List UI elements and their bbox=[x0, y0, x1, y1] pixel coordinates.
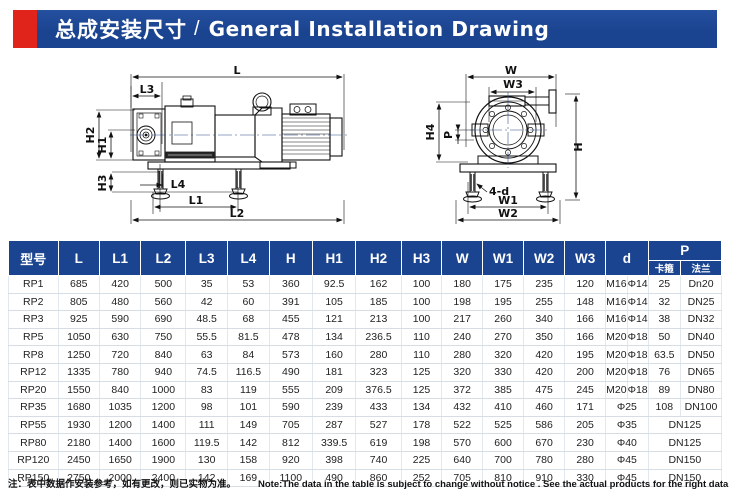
cell-d-dia: Φ14 bbox=[627, 293, 648, 311]
cell-L1: 840 bbox=[99, 381, 140, 399]
cell-W3: 195 bbox=[565, 346, 606, 364]
th-P: P bbox=[648, 241, 721, 261]
cell-L1: 420 bbox=[99, 276, 140, 294]
cell-W: 640 bbox=[442, 451, 483, 469]
cell-p: DN150 bbox=[648, 451, 721, 469]
cell-L3: 35 bbox=[186, 276, 228, 294]
cell-L1: 1035 bbox=[99, 399, 140, 417]
table-row: RP80218014001600119.5142812339.561919857… bbox=[9, 434, 722, 452]
cell-H3: 110 bbox=[401, 328, 442, 346]
cell-H: 573 bbox=[269, 346, 312, 364]
cell-L: 1550 bbox=[58, 381, 99, 399]
cell-d: Φ25 bbox=[606, 399, 649, 417]
cell-L: 2180 bbox=[58, 434, 99, 452]
label-P: P bbox=[442, 131, 455, 139]
cell-W: 180 bbox=[442, 276, 483, 294]
cell-d-dia: Φ18 bbox=[627, 346, 648, 364]
cell-p-clamp: 89 bbox=[648, 381, 680, 399]
label-H: H bbox=[572, 142, 585, 151]
table-row: RP35168010351200981015902394331344324104… bbox=[9, 399, 722, 417]
cell-model: RP8 bbox=[9, 346, 59, 364]
cell-H1: 160 bbox=[312, 346, 356, 364]
cell-d-dia: Φ18 bbox=[627, 381, 648, 399]
cell-model: RP55 bbox=[9, 416, 59, 434]
cell-L2: 1900 bbox=[141, 451, 186, 469]
cell-H2: 213 bbox=[356, 311, 401, 329]
cell-W3: 148 bbox=[565, 293, 606, 311]
cell-W3: 166 bbox=[565, 328, 606, 346]
cell-H2: 527 bbox=[356, 416, 401, 434]
cell-L4: 149 bbox=[228, 416, 270, 434]
cell-L4: 53 bbox=[228, 276, 270, 294]
cell-H1: 105 bbox=[312, 293, 356, 311]
cell-p: DN125 bbox=[648, 434, 721, 452]
cell-W2: 475 bbox=[524, 381, 565, 399]
th-P-clamp: 卡箍 bbox=[648, 261, 680, 276]
cell-W2: 350 bbox=[524, 328, 565, 346]
cell-H3: 198 bbox=[401, 434, 442, 452]
th-L4: L4 bbox=[228, 241, 270, 276]
cell-p-clamp: 50 bbox=[648, 328, 680, 346]
cell-W: 432 bbox=[442, 399, 483, 417]
cell-p-flange: DN50 bbox=[680, 346, 721, 364]
table-header-row-1: 型号 L L1 L2 L3 L4 H H1 H2 H3 W W1 W2 W3 d… bbox=[9, 241, 722, 261]
cell-H1: 398 bbox=[312, 451, 356, 469]
cell-d-dia: Φ18 bbox=[627, 328, 648, 346]
cell-L2: 1600 bbox=[141, 434, 186, 452]
cell-d-thread: M20 bbox=[606, 363, 627, 381]
cell-H1: 239 bbox=[312, 399, 356, 417]
cell-W: 522 bbox=[442, 416, 483, 434]
cell-d-thread: M20 bbox=[606, 346, 627, 364]
cell-W3: 120 bbox=[565, 276, 606, 294]
cell-W3: 171 bbox=[565, 399, 606, 417]
cell-model: RP3 bbox=[9, 311, 59, 329]
cell-p-clamp: 38 bbox=[648, 311, 680, 329]
leader-4d bbox=[477, 184, 487, 192]
label-L3: L3 bbox=[140, 83, 155, 96]
cell-H1: 209 bbox=[312, 381, 356, 399]
th-L1: L1 bbox=[99, 241, 140, 276]
cell-L: 805 bbox=[58, 293, 99, 311]
cell-H3: 125 bbox=[401, 363, 442, 381]
cell-W: 240 bbox=[442, 328, 483, 346]
table-header: 型号 L L1 L2 L3 L4 H H1 H2 H3 W W1 W2 W3 d… bbox=[9, 241, 722, 276]
cell-L3: 55.5 bbox=[186, 328, 228, 346]
cell-d-dia: Φ14 bbox=[627, 311, 648, 329]
cell-L: 925 bbox=[58, 311, 99, 329]
cell-H2: 433 bbox=[356, 399, 401, 417]
label-W3: W3 bbox=[503, 78, 523, 91]
cell-L3: 74.5 bbox=[186, 363, 228, 381]
cell-W3: 166 bbox=[565, 311, 606, 329]
cell-H3: 100 bbox=[401, 293, 442, 311]
th-W3: W3 bbox=[565, 241, 606, 276]
cell-L2: 690 bbox=[141, 311, 186, 329]
cell-W3: 205 bbox=[565, 416, 606, 434]
cell-p-flange: DN32 bbox=[680, 311, 721, 329]
label-4-d: 4-d bbox=[489, 185, 509, 198]
cell-H2: 740 bbox=[356, 451, 401, 469]
cell-p-clamp: 63.5 bbox=[648, 346, 680, 364]
cell-W1: 260 bbox=[483, 311, 524, 329]
cell-W2: 255 bbox=[524, 293, 565, 311]
cell-W2: 460 bbox=[524, 399, 565, 417]
cell-p-flange: DN40 bbox=[680, 328, 721, 346]
cell-W: 280 bbox=[442, 346, 483, 364]
title-separator: / bbox=[194, 18, 200, 41]
table-row: RP12133578094074.5116.549018132312532033… bbox=[9, 363, 722, 381]
cell-H3: 100 bbox=[401, 311, 442, 329]
cell-H2: 185 bbox=[356, 293, 401, 311]
cell-H: 812 bbox=[269, 434, 312, 452]
cell-H1: 121 bbox=[312, 311, 356, 329]
cell-L4: 119 bbox=[228, 381, 270, 399]
cell-L4: 60 bbox=[228, 293, 270, 311]
table-row: RP28054805604260391105185100198195255148… bbox=[9, 293, 722, 311]
cell-p-flange: Dn20 bbox=[680, 276, 721, 294]
cell-model: RP12 bbox=[9, 363, 59, 381]
cell-d: Φ45 bbox=[606, 451, 649, 469]
page-title-chinese: 总成安装尺寸 bbox=[55, 14, 187, 44]
page-title-english: General Installation Drawing bbox=[209, 17, 550, 41]
table-row: RP201550840100083119555209376.5125372385… bbox=[9, 381, 722, 399]
cell-W1: 525 bbox=[483, 416, 524, 434]
cell-L: 685 bbox=[58, 276, 99, 294]
technical-drawing-area: L L3 L4 L1 L2 H2 H1 H3 W W3 W1 W2 H4 P H… bbox=[0, 52, 730, 234]
th-H2: H2 bbox=[356, 241, 401, 276]
note-english-label: Note: bbox=[258, 479, 282, 490]
cell-L4: 142 bbox=[228, 434, 270, 452]
table-row: RP5105063075055.581.5478134236.511024027… bbox=[9, 328, 722, 346]
cell-L1: 720 bbox=[99, 346, 140, 364]
table-row: RP392559069048.5684551212131002172603401… bbox=[9, 311, 722, 329]
cell-L3: 63 bbox=[186, 346, 228, 364]
footer-note: 注：表中数据作安装参考，如有更改，则已实物为准。 Note: The data … bbox=[8, 476, 722, 490]
cell-model: RP1 bbox=[9, 276, 59, 294]
cell-W1: 385 bbox=[483, 381, 524, 399]
cell-H: 360 bbox=[269, 276, 312, 294]
cell-L3: 98 bbox=[186, 399, 228, 417]
cell-L3: 119.5 bbox=[186, 434, 228, 452]
cell-H1: 339.5 bbox=[312, 434, 356, 452]
th-H: H bbox=[269, 241, 312, 276]
cell-d-dia: Φ14 bbox=[627, 276, 648, 294]
th-W1: W1 bbox=[483, 241, 524, 276]
th-H3: H3 bbox=[401, 241, 442, 276]
cell-L1: 480 bbox=[99, 293, 140, 311]
cell-H: 478 bbox=[269, 328, 312, 346]
label-H1: H1 bbox=[96, 137, 109, 154]
cell-L2: 1200 bbox=[141, 399, 186, 417]
cell-L1: 1200 bbox=[99, 416, 140, 434]
cell-W1: 320 bbox=[483, 346, 524, 364]
cell-d: Φ35 bbox=[606, 416, 649, 434]
cell-H: 490 bbox=[269, 363, 312, 381]
cell-d-thread: M16 bbox=[606, 276, 627, 294]
cell-W: 570 bbox=[442, 434, 483, 452]
cell-L2: 840 bbox=[141, 346, 186, 364]
side-view-group bbox=[96, 74, 348, 224]
page-title-bar: 总成安装尺寸 / General Installation Drawing bbox=[13, 10, 717, 48]
th-L3: L3 bbox=[186, 241, 228, 276]
cell-H2: 376.5 bbox=[356, 381, 401, 399]
cell-W: 372 bbox=[442, 381, 483, 399]
cell-L2: 1400 bbox=[141, 416, 186, 434]
table-row: RP12024501650190013015892039874022564070… bbox=[9, 451, 722, 469]
cell-p-flange: DN80 bbox=[680, 381, 721, 399]
cell-d-thread: M20 bbox=[606, 381, 627, 399]
cell-L: 1930 bbox=[58, 416, 99, 434]
cell-d-dia: Φ18 bbox=[627, 363, 648, 381]
cell-W3: 280 bbox=[565, 451, 606, 469]
cell-W1: 330 bbox=[483, 363, 524, 381]
cell-L1: 1400 bbox=[99, 434, 140, 452]
cell-L1: 1650 bbox=[99, 451, 140, 469]
cell-H: 590 bbox=[269, 399, 312, 417]
cell-p: DN125 bbox=[648, 416, 721, 434]
label-L: L bbox=[233, 64, 240, 77]
cell-L: 2450 bbox=[58, 451, 99, 469]
cell-L: 1250 bbox=[58, 346, 99, 364]
cell-L: 1335 bbox=[58, 363, 99, 381]
cell-W1: 700 bbox=[483, 451, 524, 469]
label-L4: L4 bbox=[171, 178, 186, 191]
cell-L4: 158 bbox=[228, 451, 270, 469]
label-H3: H3 bbox=[96, 175, 109, 192]
cell-H3: 110 bbox=[401, 346, 442, 364]
cell-H1: 287 bbox=[312, 416, 356, 434]
cell-H3: 134 bbox=[401, 399, 442, 417]
th-P-flange: 法兰 bbox=[680, 261, 721, 276]
cell-model: RP2 bbox=[9, 293, 59, 311]
cell-L4: 84 bbox=[228, 346, 270, 364]
note-chinese: 注：表中数据作安装参考，如有更改，则已实物为准。 bbox=[8, 476, 236, 490]
cell-W2: 780 bbox=[524, 451, 565, 469]
cell-H3: 178 bbox=[401, 416, 442, 434]
cell-p-clamp: 108 bbox=[648, 399, 680, 417]
cell-H: 920 bbox=[269, 451, 312, 469]
cell-W2: 235 bbox=[524, 276, 565, 294]
cell-H3: 125 bbox=[401, 381, 442, 399]
cell-H1: 92.5 bbox=[312, 276, 356, 294]
cell-p-flange: DN65 bbox=[680, 363, 721, 381]
cell-L1: 780 bbox=[99, 363, 140, 381]
cell-H: 555 bbox=[269, 381, 312, 399]
cell-p-clamp: 25 bbox=[648, 276, 680, 294]
cell-L3: 130 bbox=[186, 451, 228, 469]
cell-W: 320 bbox=[442, 363, 483, 381]
cell-L1: 590 bbox=[99, 311, 140, 329]
cell-L2: 1000 bbox=[141, 381, 186, 399]
cell-L4: 116.5 bbox=[228, 363, 270, 381]
cell-model: RP80 bbox=[9, 434, 59, 452]
th-L2: L2 bbox=[141, 241, 186, 276]
cell-p-clamp: 32 bbox=[648, 293, 680, 311]
cell-W3: 200 bbox=[565, 363, 606, 381]
cell-L3: 48.5 bbox=[186, 311, 228, 329]
cell-H: 455 bbox=[269, 311, 312, 329]
th-d: d bbox=[606, 241, 649, 276]
cell-L2: 750 bbox=[141, 328, 186, 346]
cell-W2: 420 bbox=[524, 346, 565, 364]
cell-W2: 586 bbox=[524, 416, 565, 434]
cell-H1: 181 bbox=[312, 363, 356, 381]
cell-W: 198 bbox=[442, 293, 483, 311]
cell-H3: 225 bbox=[401, 451, 442, 469]
cell-W2: 340 bbox=[524, 311, 565, 329]
th-L: L bbox=[58, 241, 99, 276]
cell-H: 391 bbox=[269, 293, 312, 311]
table-row: RP55193012001400111149705287527178522525… bbox=[9, 416, 722, 434]
th-H1: H1 bbox=[312, 241, 356, 276]
cell-p-clamp: 76 bbox=[648, 363, 680, 381]
cell-L: 1050 bbox=[58, 328, 99, 346]
cell-W1: 410 bbox=[483, 399, 524, 417]
cell-W: 217 bbox=[442, 311, 483, 329]
cell-model: RP35 bbox=[9, 399, 59, 417]
cell-W2: 670 bbox=[524, 434, 565, 452]
cell-L4: 81.5 bbox=[228, 328, 270, 346]
cell-W3: 245 bbox=[565, 381, 606, 399]
th-W2: W2 bbox=[524, 241, 565, 276]
cell-L2: 500 bbox=[141, 276, 186, 294]
cell-model: RP120 bbox=[9, 451, 59, 469]
cell-H3: 100 bbox=[401, 276, 442, 294]
table-row: RP81250720840638457316028011028032042019… bbox=[9, 346, 722, 364]
th-model: 型号 bbox=[9, 241, 59, 276]
cell-d: Φ40 bbox=[606, 434, 649, 452]
cell-L: 1680 bbox=[58, 399, 99, 417]
cell-W2: 420 bbox=[524, 363, 565, 381]
cell-L4: 68 bbox=[228, 311, 270, 329]
cell-L2: 560 bbox=[141, 293, 186, 311]
label-H4: H4 bbox=[424, 123, 437, 140]
cell-model: RP5 bbox=[9, 328, 59, 346]
cell-W1: 600 bbox=[483, 434, 524, 452]
cell-H2: 162 bbox=[356, 276, 401, 294]
label-L1: L1 bbox=[189, 194, 204, 207]
table-row: RP1685420500355336092.516210018017523512… bbox=[9, 276, 722, 294]
cell-p-flange: DN100 bbox=[680, 399, 721, 417]
label-L2: L2 bbox=[230, 207, 245, 220]
cell-L2: 940 bbox=[141, 363, 186, 381]
cell-L3: 42 bbox=[186, 293, 228, 311]
cell-L4: 101 bbox=[228, 399, 270, 417]
cell-H: 705 bbox=[269, 416, 312, 434]
label-W2: W2 bbox=[498, 207, 518, 220]
cell-L3: 111 bbox=[186, 416, 228, 434]
cell-H2: 236.5 bbox=[356, 328, 401, 346]
cell-d-thread: M20 bbox=[606, 328, 627, 346]
cell-L3: 83 bbox=[186, 381, 228, 399]
title-red-accent bbox=[13, 10, 37, 48]
note-english-text: The data in the table is subject to chan… bbox=[282, 479, 730, 490]
label-W: W bbox=[505, 64, 517, 77]
specification-table: 型号 L L1 L2 L3 L4 H H1 H2 H3 W W1 W2 W3 d… bbox=[8, 240, 722, 487]
cell-H1: 134 bbox=[312, 328, 356, 346]
cell-H2: 619 bbox=[356, 434, 401, 452]
cell-W3: 230 bbox=[565, 434, 606, 452]
installation-drawing-svg: L L3 L4 L1 L2 H2 H1 H3 W W3 W1 W2 H4 P H… bbox=[0, 52, 730, 234]
cell-W1: 270 bbox=[483, 328, 524, 346]
cell-W1: 195 bbox=[483, 293, 524, 311]
cell-L1: 630 bbox=[99, 328, 140, 346]
cell-model: RP20 bbox=[9, 381, 59, 399]
table-body: RP1685420500355336092.516210018017523512… bbox=[9, 276, 722, 487]
cell-p-flange: DN25 bbox=[680, 293, 721, 311]
cell-H2: 280 bbox=[356, 346, 401, 364]
cell-d-thread: M16 bbox=[606, 293, 627, 311]
title-blue-band: 总成安装尺寸 / General Installation Drawing bbox=[37, 10, 717, 48]
cell-d-thread: M16 bbox=[606, 311, 627, 329]
th-W: W bbox=[442, 241, 483, 276]
cell-H2: 323 bbox=[356, 363, 401, 381]
cell-W1: 175 bbox=[483, 276, 524, 294]
